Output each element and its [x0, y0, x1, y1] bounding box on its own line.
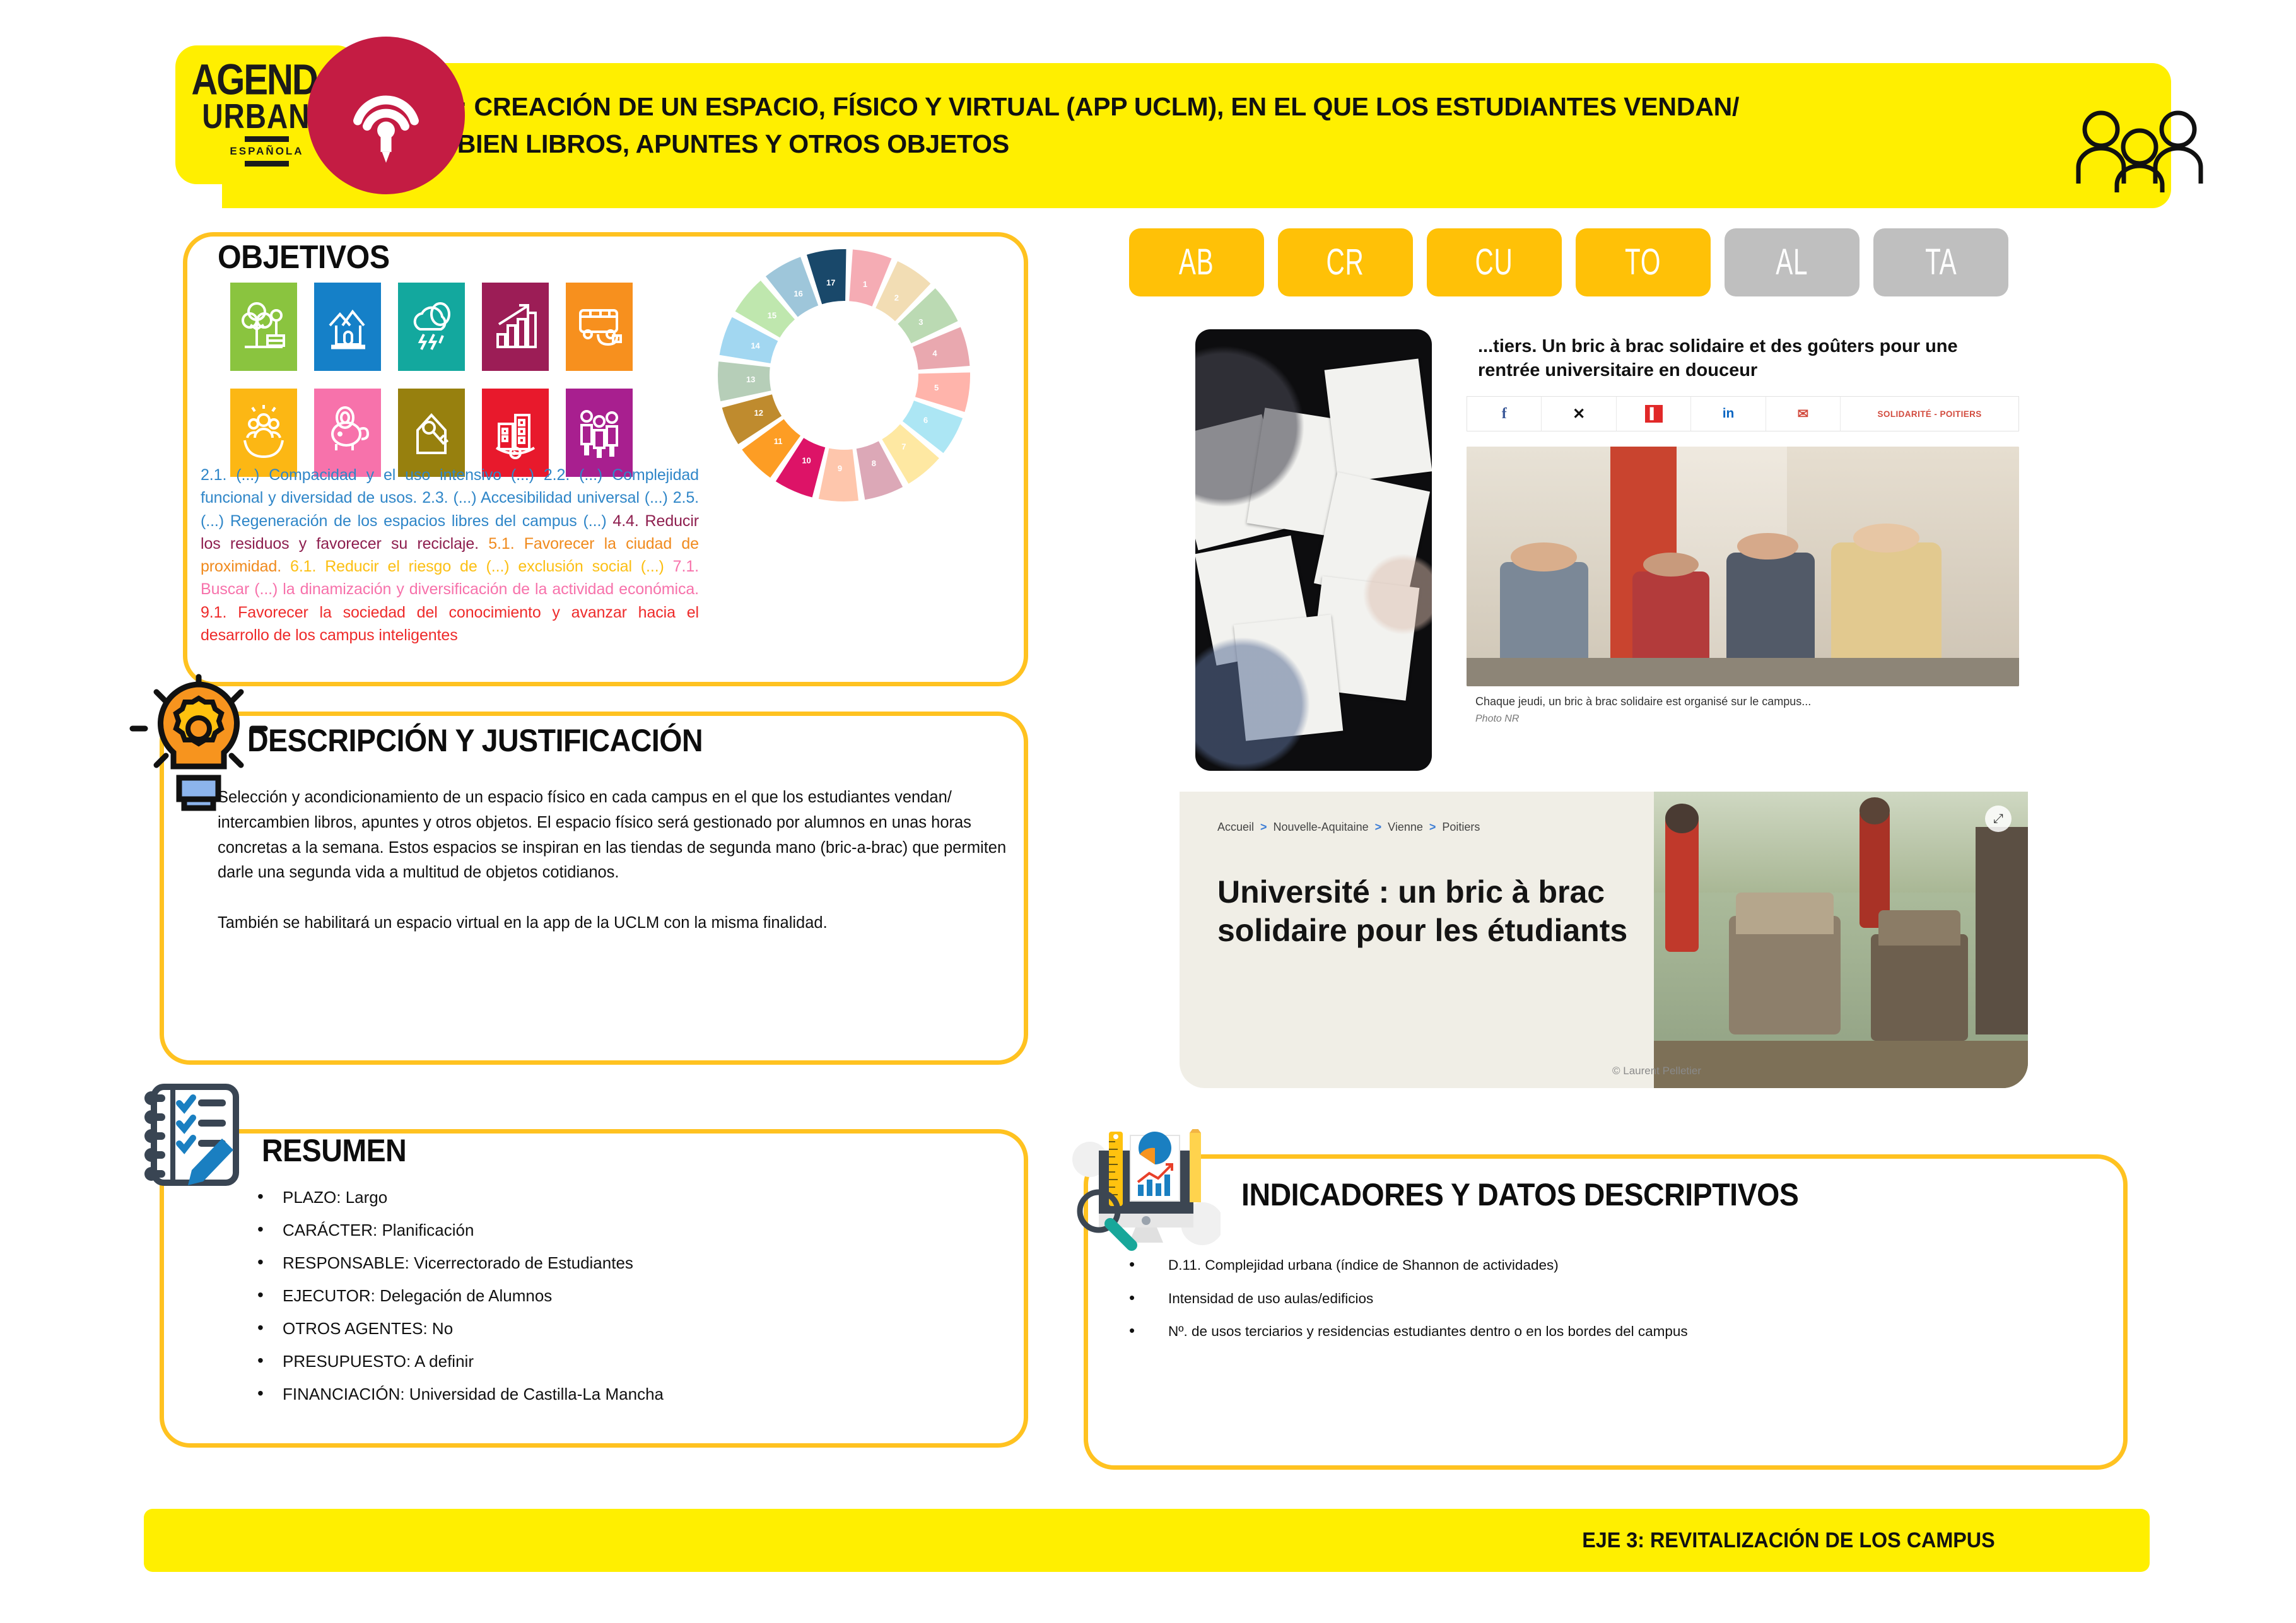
sdg-segment-number-17: 17 — [826, 278, 835, 287]
sdg-segment-13 — [718, 361, 771, 401]
campus-tag-cr[interactable]: CR — [1278, 228, 1413, 296]
article2-headline: Université : un bric à brac solidaire po… — [1217, 873, 1640, 950]
house-buildings-icon — [314, 283, 381, 371]
campus-tag-to[interactable]: TO — [1576, 228, 1711, 296]
descripcion-paragraph-1: Selección y acondicionamiento de un espa… — [218, 785, 1009, 886]
poster-page: ACCIÓN 10: CREACIÓN DE UN ESPACIO, FÍSIC… — [0, 0, 2296, 1623]
share-row: f ✕ ▌ in ✉ SOLIDARITÉ - POITIERS — [1467, 396, 2019, 431]
resumen-list: PLAZO: Largo CARÁCTER: Planificación RES… — [252, 1189, 997, 1419]
descripcion-title: DESCRIPCIÓN Y JUSTIFICACIÓN — [247, 722, 703, 759]
article2-credit: © Laurent Pelletier — [1612, 1065, 1701, 1077]
breadcrumb-item-poitiers[interactable]: Poitiers — [1442, 821, 1480, 833]
campus-tag-cu-label: CU — [1475, 241, 1513, 283]
logo-line-espanola: ESPAÑOLA — [230, 145, 303, 158]
sdg-segment-9 — [819, 448, 858, 501]
sdg-segment-number-16: 16 — [794, 289, 802, 298]
campus-tag-ta[interactable]: TA — [1873, 228, 2008, 296]
sdg-segment-number-2: 2 — [894, 293, 899, 303]
campus-tag-list: AB CR CU TO AL TA — [1129, 228, 2008, 296]
monitor-charts-magnifier-icon — [1072, 1129, 1221, 1271]
campus-tag-ab-label: AB — [1179, 241, 1214, 283]
breadcrumb-item-accueil[interactable]: Accueil — [1217, 821, 1254, 833]
objetivos-text: 2.1. (...) Compacidad y el uso intensivo… — [201, 464, 699, 647]
list-item: CARÁCTER: Planificación — [252, 1222, 997, 1238]
sdg-segment-number-11: 11 — [774, 437, 783, 446]
news-article-card-1: ...tiers. Un bric à brac solidaire et de… — [1459, 319, 2027, 773]
people-group-icon — [2072, 104, 2208, 192]
list-item: EJECUTOR: Delegación de Alumnos — [252, 1287, 997, 1304]
bus-plug-icon — [566, 283, 633, 371]
outdoor-furniture-market-photo: ⤢ — [1654, 792, 2028, 1088]
students-exchanging-notes-photo — [1195, 329, 1432, 771]
sdg-wheel-icon: 1234567891011121314151617 — [712, 243, 976, 508]
footer-bar: EJE 3: REVITALIZACIÓN DE LOS CAMPUS — [144, 1509, 2150, 1572]
campus-tag-cu[interactable]: CU — [1427, 228, 1562, 296]
tree-park-icon — [230, 283, 297, 371]
article1-tag[interactable]: SOLIDARITÉ - POITIERS — [1841, 397, 2018, 431]
article1-tag-label: SOLIDARITÉ - POITIERS — [1878, 409, 1982, 419]
list-item: FINANCIACIÓN: Universidad de Castilla-La… — [252, 1386, 997, 1402]
breadcrumb: Accueil>Nouvelle-Aquitaine>Vienne>Poitie… — [1217, 821, 1640, 834]
article1-headline: ...tiers. Un bric à brac solidaire et de… — [1478, 335, 2008, 382]
campus-tag-to-label: TO — [1625, 241, 1661, 283]
indicadores-list: D.11. Complejidad urbana (índice de Shan… — [1123, 1258, 2069, 1358]
bar-chart-arrow-icon — [482, 283, 549, 371]
indicadores-title: INDICADORES Y DATOS DESCRIPTIVOS — [1241, 1176, 1798, 1213]
cloud-storm-icon — [398, 283, 465, 371]
objetivos-icon-grid — [230, 283, 633, 477]
campus-tag-ab[interactable]: AB — [1129, 228, 1264, 296]
news-article-card-2: Accueil>Nouvelle-Aquitaine>Vienne>Poitie… — [1180, 792, 2028, 1088]
objetivo-seg-6: 9.1. Favorecer la sociedad del conocimie… — [201, 604, 699, 644]
descripcion-paragraph-2: También se habilitará un espacio virtual… — [218, 911, 1009, 936]
descripcion-body: Selección y acondicionamiento de un espa… — [218, 785, 1009, 936]
sdg-segment-number-7: 7 — [901, 442, 906, 452]
list-item: PLAZO: Largo — [252, 1189, 997, 1205]
list-item: D.11. Complejidad urbana (índice de Shan… — [1123, 1258, 2069, 1273]
article1-credit: Photo NR — [1459, 708, 2027, 725]
logo-rule-bottom — [245, 161, 289, 167]
breadcrumb-item-vienne[interactable]: Vienne — [1388, 821, 1423, 833]
list-item: PRESUPUESTO: A definir — [252, 1353, 997, 1369]
logo-rule-top — [245, 136, 289, 142]
sdg-segment-number-3: 3 — [918, 317, 923, 327]
resumen-title: RESUMEN — [262, 1132, 406, 1169]
campus-tag-cr-label: CR — [1327, 241, 1364, 283]
x-twitter-icon[interactable]: ✕ — [1542, 397, 1616, 431]
sdg-segment-number-13: 13 — [746, 375, 755, 384]
flipboard-icon[interactable]: ▌ — [1617, 397, 1691, 431]
article1-caption: Chaque jeudi, un bric à brac solidaire e… — [1459, 686, 2027, 708]
sdg-segment-number-9: 9 — [838, 464, 842, 473]
sdg-segment-number-6: 6 — [923, 416, 928, 425]
facebook-icon[interactable]: f — [1467, 397, 1542, 431]
breadcrumb-item-nouvelle-aquitaine[interactable]: Nouvelle-Aquitaine — [1274, 821, 1369, 833]
footer-text: EJE 3: REVITALIZACIÓN DE LOS CAMPUS — [1582, 1528, 1994, 1553]
list-item: RESPONSABLE: Vicerrectorado de Estudiant… — [252, 1255, 997, 1271]
campus-bric-a-brac-photo — [1467, 447, 2019, 686]
page-title: ACCIÓN 10: CREACIÓN DE UN ESPACIO, FÍSIC… — [322, 88, 1905, 183]
expand-arrows-icon[interactable]: ⤢ — [1985, 806, 2012, 832]
objetivo-seg-4: 6.1. Reducir el riesgo de (...) exclusió… — [290, 558, 673, 575]
list-item: OTROS AGENTES: No — [252, 1320, 997, 1337]
sdg-segment-number-14: 14 — [751, 341, 760, 350]
sdg-segment-number-5: 5 — [934, 383, 939, 392]
campus-tag-ta-label: TA — [1925, 241, 1957, 283]
sdg-segment-number-4: 4 — [932, 349, 937, 358]
campus-tag-al-label: AL — [1776, 241, 1808, 283]
sdg-segment-number-10: 10 — [802, 456, 811, 466]
sdg-segment-number-1: 1 — [863, 279, 867, 289]
sdg-segment-number-15: 15 — [768, 311, 776, 320]
objetivos-title: OBJETIVOS — [218, 238, 390, 276]
sdg-segment-number-8: 8 — [872, 459, 876, 468]
linkedin-icon[interactable]: in — [1691, 397, 1766, 431]
campus-tag-al[interactable]: AL — [1725, 228, 1860, 296]
list-item: Nº. de usos terciarios y residencias est… — [1123, 1325, 2069, 1339]
list-item: Intensidad de uso aulas/edificios — [1123, 1292, 2069, 1306]
rocket-signal-icon — [307, 37, 465, 194]
email-share-icon[interactable]: ✉ — [1766, 397, 1841, 431]
sdg-segment-number-12: 12 — [754, 408, 763, 418]
notepad-checklist-pencil-icon — [134, 1082, 250, 1211]
